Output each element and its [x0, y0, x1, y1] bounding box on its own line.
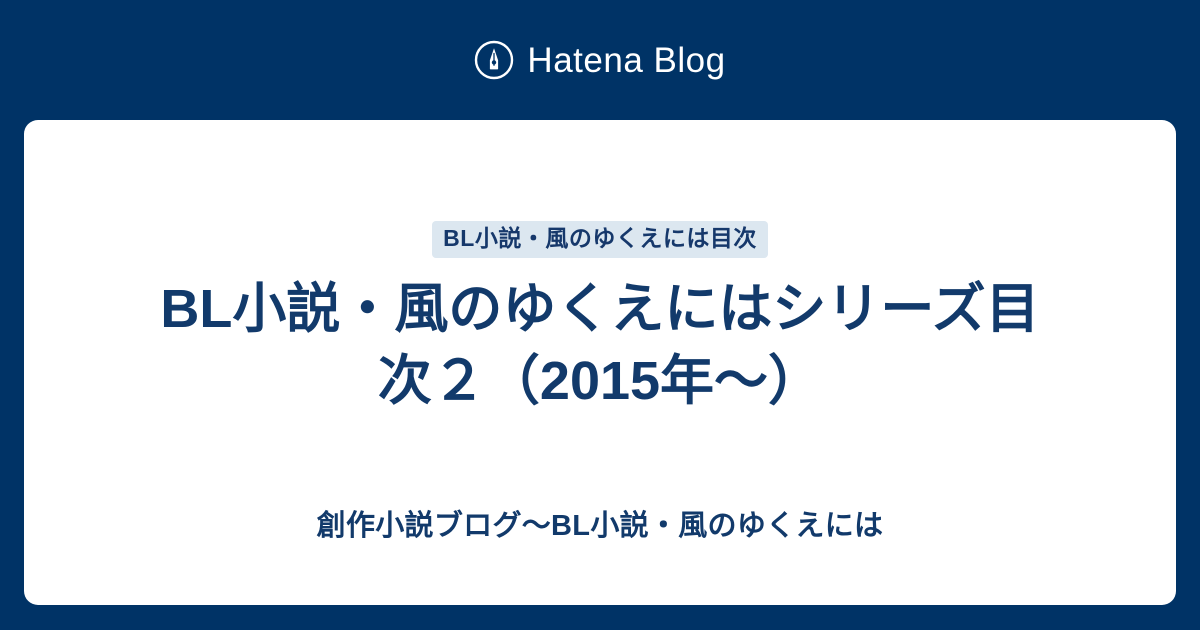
- category-badge[interactable]: BL小説・風のゆくえには目次: [432, 221, 768, 258]
- service-header: Hatena Blog: [0, 0, 1200, 120]
- service-name: Hatena Blog: [527, 43, 725, 78]
- hatena-pen-nib-icon: [474, 40, 514, 80]
- blog-name: 創作小説ブログ〜BL小説・風のゆくえには: [24, 508, 1176, 546]
- category-badge-row: BL小説・風のゆくえには目次: [64, 221, 1136, 258]
- entry-card: BL小説・風のゆくえには目次 BL小説・風のゆくえにはシリーズ目次２（2015年…: [24, 120, 1176, 605]
- entry-title: BL小説・風のゆくえにはシリーズ目次２（2015年〜）: [150, 274, 1050, 417]
- open-graph-card: Hatena Blog BL小説・風のゆくえには目次 BL小説・風のゆくえにはシ…: [0, 0, 1200, 630]
